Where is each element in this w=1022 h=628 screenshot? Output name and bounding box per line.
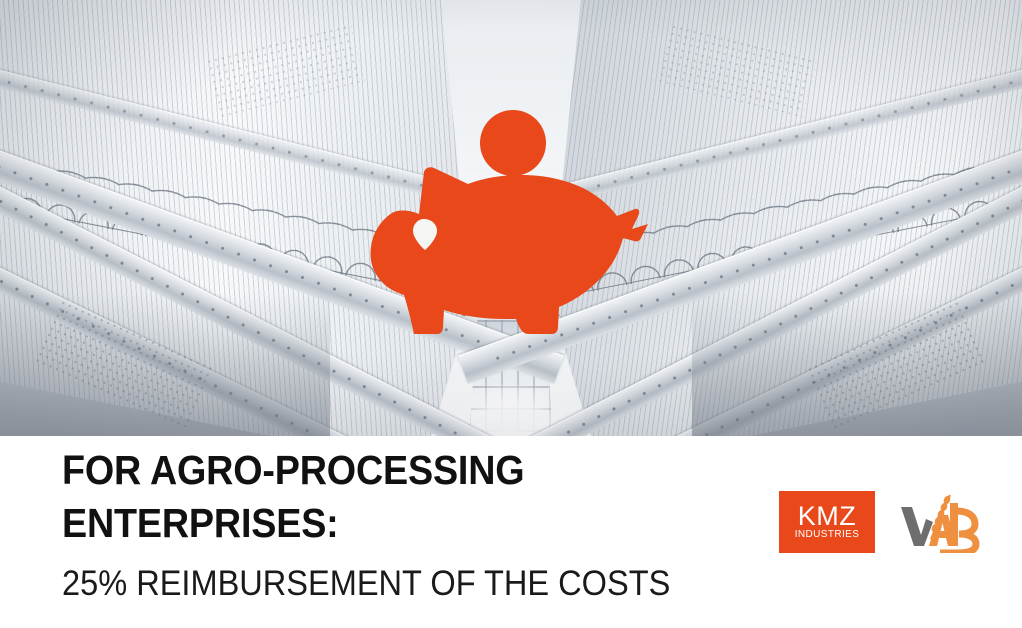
vab-bank-logo[interactable]	[895, 491, 981, 553]
caption-area: FOR AGRO-PROCESSING ENTERPRISES: 25% REI…	[0, 436, 1022, 628]
hero-photo	[0, 0, 1022, 436]
headline-line-1: FOR AGRO-PROCESSING	[62, 444, 524, 497]
photo-vignette	[0, 0, 1022, 436]
promotional-banner: FOR AGRO-PROCESSING ENTERPRISES: 25% REI…	[0, 0, 1022, 628]
vab-letter-v	[901, 507, 933, 546]
kmz-industries-logo[interactable]: KMZ INDUSTRIES	[779, 491, 875, 553]
logo-group: KMZ INDUSTRIES	[779, 491, 981, 553]
headline-line-2: ENTERPRISES:	[62, 497, 339, 550]
subheadline: 25% REIMBURSEMENT OF THE COSTS	[62, 564, 670, 604]
kmz-logo-wordmark: KMZ	[798, 503, 857, 529]
kmz-logo-tagline: INDUSTRIES	[795, 529, 860, 541]
